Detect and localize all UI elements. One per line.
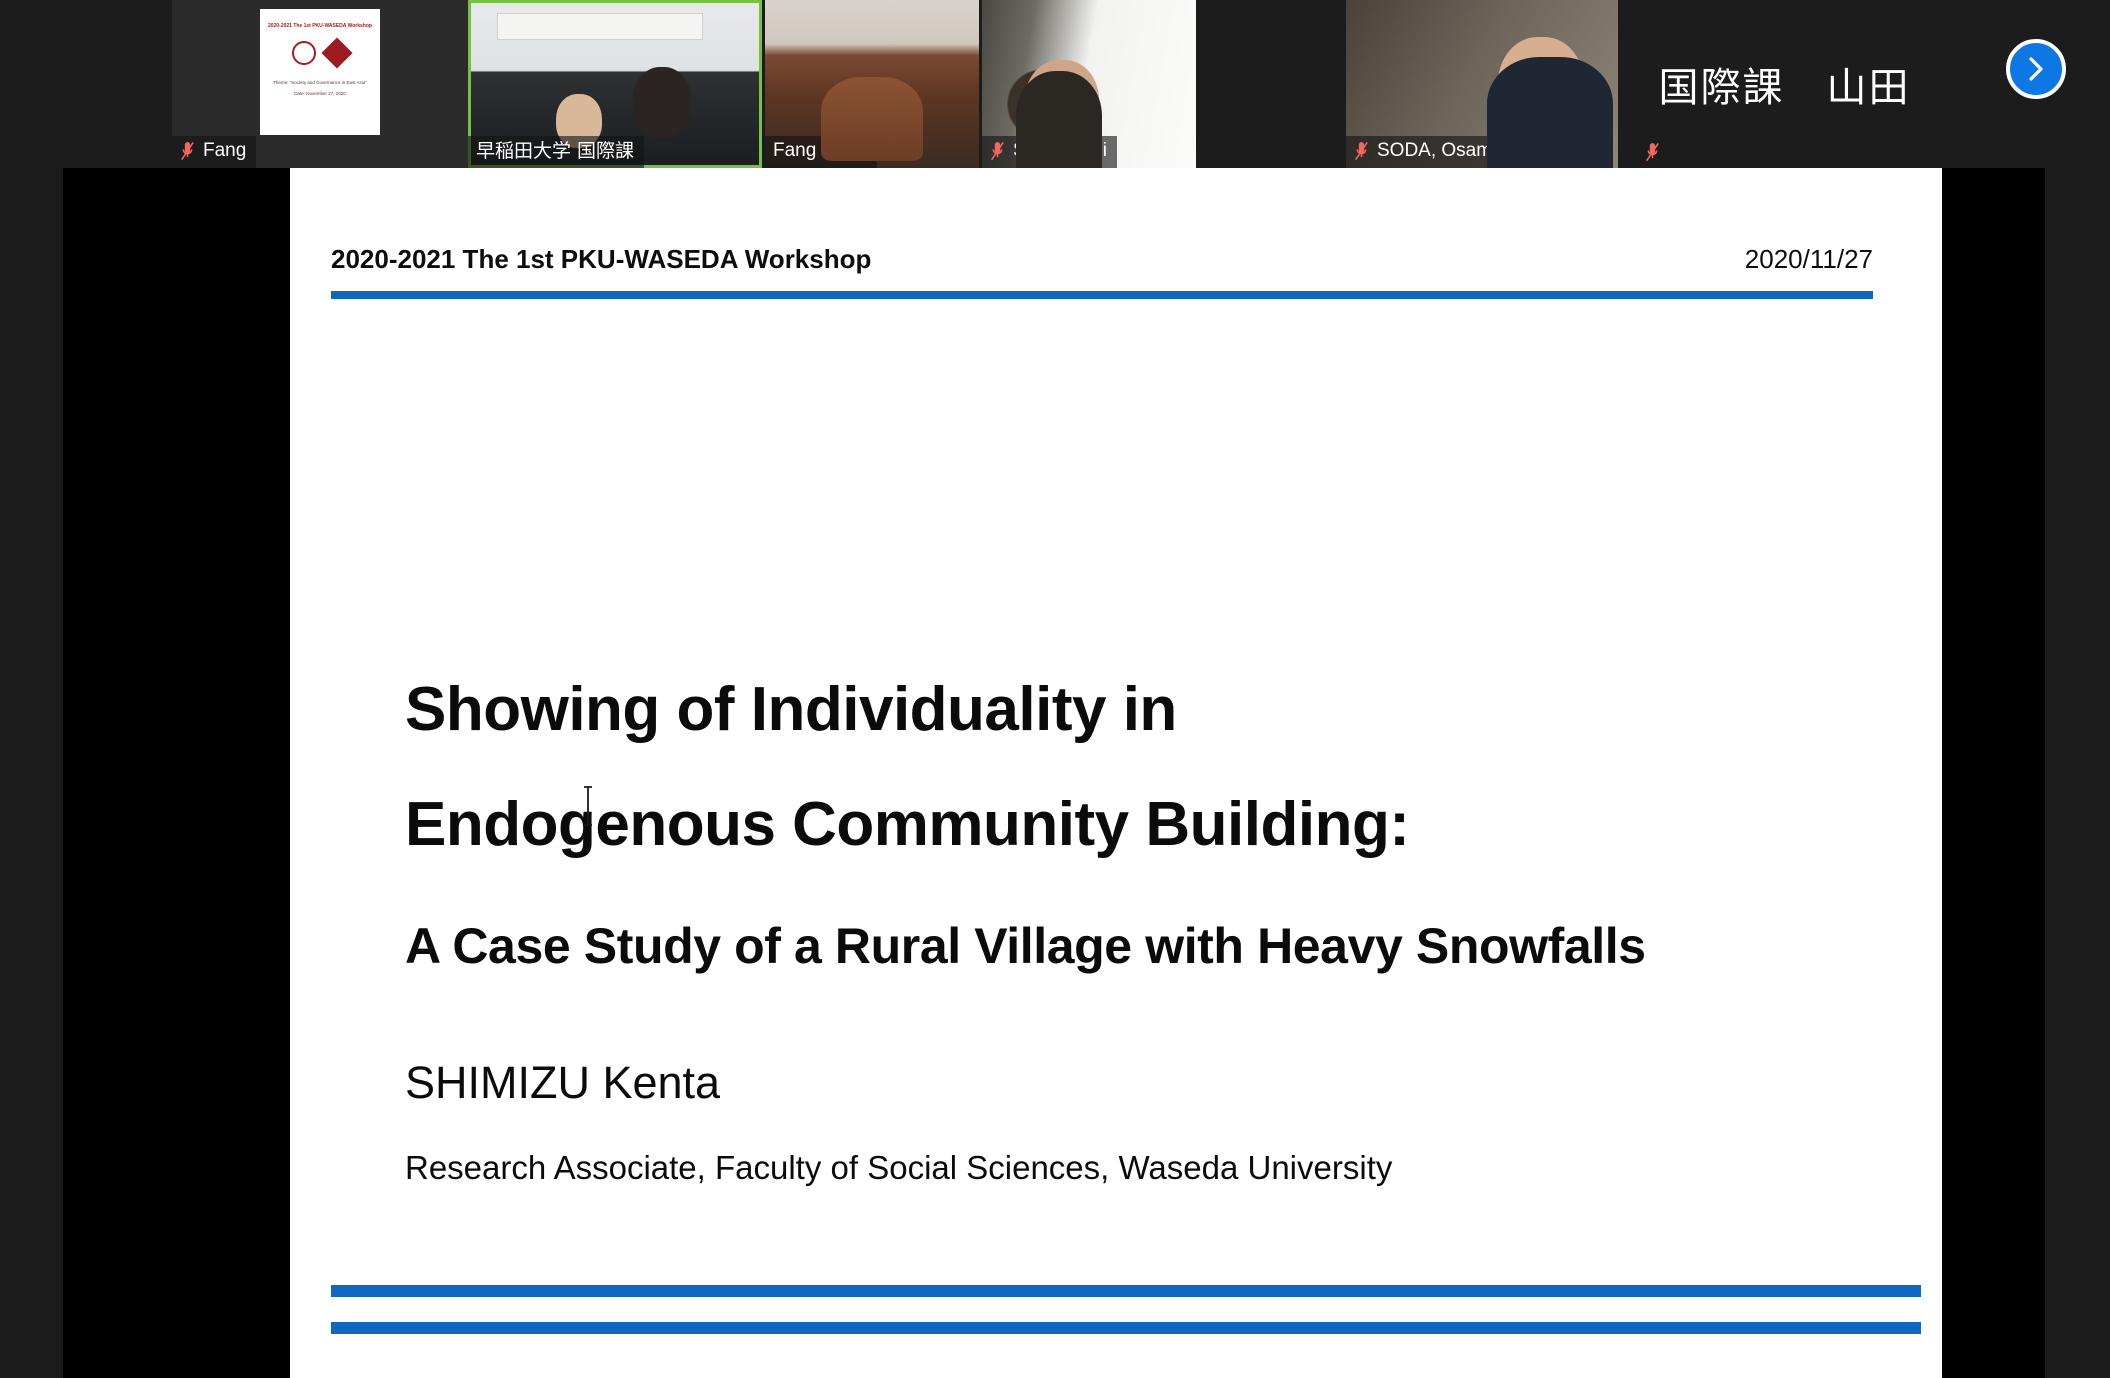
tile-name-label: 早稲田大学 国際課 xyxy=(468,136,644,168)
slide-title-line-2: Endogenous Community Building: xyxy=(405,789,1409,860)
mic-muted-icon xyxy=(1645,142,1660,162)
slide-subtitle: A Case Study of a Rural Village with Hea… xyxy=(405,917,1646,975)
participant-tile-kokusaika-yamada[interactable]: 国際課 山田 xyxy=(1639,0,1930,168)
tile-name-text: Sato Yoichi xyxy=(1013,140,1107,162)
tile-name-text: Fang xyxy=(203,140,246,162)
mic-muted-icon xyxy=(180,141,195,161)
participant-tile-soda-osamu[interactable]: SODA, Osamu(早... xyxy=(1346,0,1618,168)
slide-affiliation: Research Associate, Faculty of Social Sc… xyxy=(405,1149,1392,1187)
tile-name-label: Sato Yoichi xyxy=(982,136,1117,168)
participant-tile-waseda-kokusaika[interactable]: 早稲田大学 国際課 xyxy=(468,0,762,168)
tile-display-name: 国際課 山田 xyxy=(1659,55,1911,113)
participant-filmstrip: 2020-2021 The 1st PKU-WASEDA Workshop Th… xyxy=(0,0,2110,168)
waseda-crest-icon xyxy=(321,37,352,68)
chevron-right-icon xyxy=(2024,54,2048,84)
tile-name-label xyxy=(1639,138,1670,168)
participant-tile-fang[interactable]: 2020-2021 The 1st PKU-WASEDA Workshop Th… xyxy=(172,0,468,168)
slide-footer-rule-bottom xyxy=(331,1322,1921,1334)
participant-tile-sato-yoichi[interactable]: Sato Yoichi xyxy=(982,0,1196,168)
zoom-meeting-window: 2020-2021 The 1st PKU-WASEDA Workshop Th… xyxy=(0,0,2110,1378)
mic-muted-icon xyxy=(990,141,1005,161)
tile-name-label: Fang Chen xyxy=(765,136,877,168)
slide-thumbnail-crests xyxy=(268,41,372,65)
slide-header-date: 2020/11/27 xyxy=(1745,244,1873,275)
slide-footer-rule-top xyxy=(331,1285,1921,1297)
tile-name-text: SODA, Osamu(早... xyxy=(1377,140,1544,162)
tile-name-text: 早稲田大学 国際課 xyxy=(476,140,634,162)
slide-header: 2020-2021 The 1st PKU-WASEDA Workshop 20… xyxy=(331,244,1873,275)
shared-screen-area: 2020-2021 The 1st PKU-WASEDA Workshop 20… xyxy=(0,168,2110,1378)
filmstrip-next-page-button[interactable] xyxy=(2006,39,2066,99)
tile-name-label: SODA, Osamu(早... xyxy=(1346,136,1554,168)
mic-muted-icon xyxy=(1354,141,1369,161)
pku-crest-icon xyxy=(292,41,316,65)
slide-thumbnail-date: Date: November 27, 2020 xyxy=(268,90,372,98)
slide-thumbnail-preview: 2020-2021 The 1st PKU-WASEDA Workshop Th… xyxy=(260,9,380,135)
participant-tile-fang-chen[interactable]: Fang Chen xyxy=(765,0,979,168)
slide-header-title: 2020-2021 The 1st PKU-WASEDA Workshop xyxy=(331,244,871,275)
slide-thumbnail-title: 2020-2021 The 1st PKU-WASEDA Workshop xyxy=(268,23,372,30)
tile-name-label: Fang xyxy=(172,136,256,168)
presentation-slide[interactable]: 2020-2021 The 1st PKU-WASEDA Workshop 20… xyxy=(290,168,1942,1378)
slide-author: SHIMIZU Kenta xyxy=(405,1057,720,1109)
slide-title-line-1: Showing of Individuality in xyxy=(405,674,1177,745)
slide-header-rule xyxy=(331,291,1873,299)
share-letterbox: 2020-2021 The 1st PKU-WASEDA Workshop 20… xyxy=(63,168,2045,1378)
tile-name-text: Fang Chen xyxy=(773,140,867,162)
slide-thumbnail-theme: Theme: "Society and Governance in East A… xyxy=(268,79,372,87)
